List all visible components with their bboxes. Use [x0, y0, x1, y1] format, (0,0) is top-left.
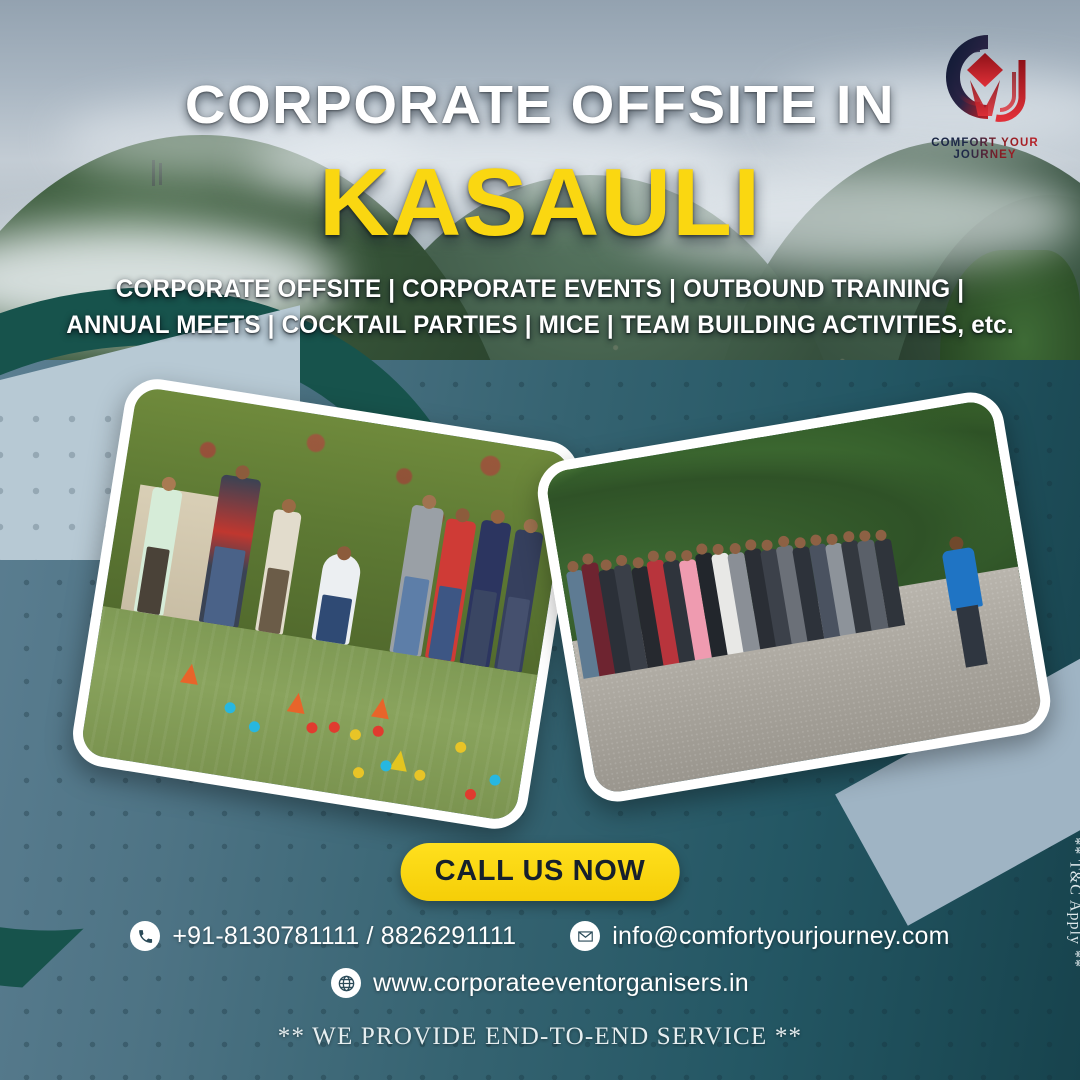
photo-team-building	[68, 374, 584, 833]
website-contact[interactable]: www.corporateeventorganisers.in	[331, 968, 749, 998]
services-list: CORPORATE OFFSITE | CORPORATE EVENTS | O…	[16, 272, 1064, 343]
terms-and-conditions-note: ** T&C Apply **	[1066, 837, 1080, 968]
email-icon	[570, 921, 600, 951]
poster-canvas: COMFORT YOUR JOURNEY CORPORATE OFFSITE I…	[0, 0, 1080, 1080]
page-title-destination: KASAULI	[0, 155, 1080, 251]
contact-row-website: www.corporateeventorganisers.in	[0, 968, 1080, 998]
training-cone	[180, 663, 201, 686]
phone-number: +91-8130781111 / 8826291111	[172, 922, 516, 951]
globe-icon	[331, 968, 361, 998]
training-cone	[287, 691, 308, 714]
website-url: www.corporateeventorganisers.in	[373, 969, 749, 998]
phone-icon	[130, 921, 160, 951]
call-us-now-button[interactable]: CALL US NOW	[401, 843, 680, 901]
footer-tagline: ** WE PROVIDE END-TO-END SERVICE **	[0, 1023, 1080, 1051]
services-line-2: ANNUAL MEETS | COCKTAIL PARTIES | MICE |…	[16, 308, 1064, 344]
photo-right-scene	[544, 399, 1044, 795]
training-cone	[371, 697, 392, 720]
training-cone	[389, 749, 410, 772]
email-contact[interactable]: info@comfortyourjourney.com	[570, 921, 949, 951]
page-title-line1: CORPORATE OFFSITE IN	[0, 74, 1080, 136]
email-address: info@comfortyourjourney.com	[612, 922, 949, 951]
photo-left-scene	[80, 386, 573, 822]
phone-contact[interactable]: +91-8130781111 / 8826291111	[130, 921, 516, 951]
contact-row-primary: +91-8130781111 / 8826291111 info@comfort…	[0, 921, 1080, 951]
services-line-1: CORPORATE OFFSITE | CORPORATE EVENTS | O…	[16, 272, 1064, 308]
